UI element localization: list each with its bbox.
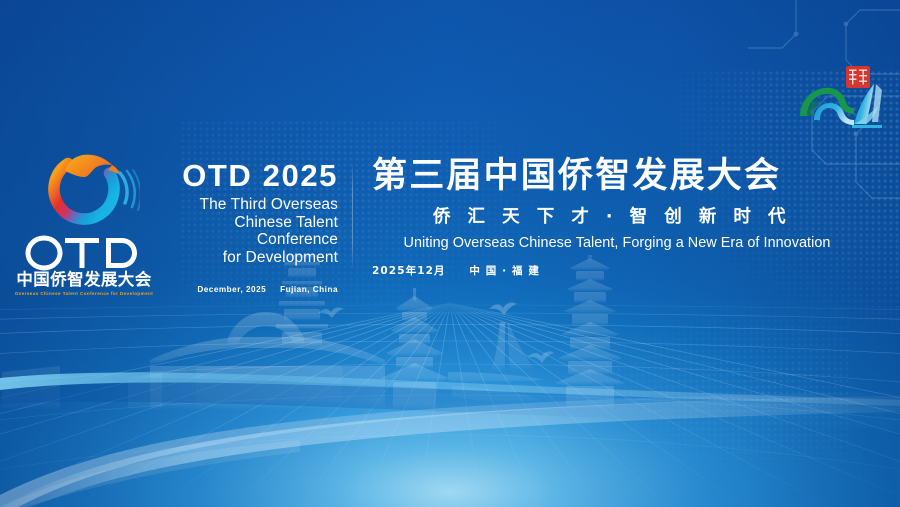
otd-logo-block: 中国侨智发展大会 Overseas Chinese Talent Confere… xyxy=(14,147,154,296)
english-location: Fujian, China xyxy=(280,285,338,294)
chinese-slogan: 侨 汇 天 下 才 · 智 创 新 时 代 xyxy=(372,203,862,228)
english-date-location: December, 2025 Fujian, China xyxy=(160,285,338,294)
english-subtitle-line-3: for Development xyxy=(160,249,338,267)
slogan-english: Uniting Overseas Chinese Talent, Forging… xyxy=(372,235,862,251)
english-subtitle-line-2: Chinese Talent Conference xyxy=(160,214,338,249)
chinese-location: 中 国 · 福 建 xyxy=(469,265,540,277)
emblem-red-seal xyxy=(846,66,870,88)
otd-chinese-name: 中国侨智发展大会 xyxy=(16,270,151,289)
otd-circular-swoosh-logo xyxy=(28,147,140,233)
english-subtitle: The Third Overseas Chinese Talent Confer… xyxy=(160,196,338,266)
chinese-title-panel: 第三届中国侨智发展大会 侨 汇 天 下 才 · 智 创 新 时 代 Unitin… xyxy=(372,158,862,278)
fujian-province-emblem xyxy=(792,62,888,138)
event-banner: 中国侨智发展大会 Overseas Chinese Talent Confere… xyxy=(0,0,900,507)
english-subtitle-line-1: The Third Overseas xyxy=(160,196,338,214)
otd-english-name: Overseas Chinese Talent Conference for D… xyxy=(13,290,156,295)
otd-chinese-name-wrap: 中国侨智发展大会 xyxy=(16,272,152,289)
panel-divider xyxy=(352,162,353,270)
chinese-date: 2025年12月 xyxy=(372,265,446,277)
english-event-title: OTD 2025 xyxy=(160,160,338,191)
otd-wordmark xyxy=(24,235,144,271)
chinese-event-title: 第三届中国侨智发展大会 xyxy=(372,158,862,196)
english-date: December, 2025 xyxy=(197,285,266,294)
english-title-panel: OTD 2025 The Third Overseas Chinese Tale… xyxy=(160,160,338,294)
chinese-date-location: 2025年12月 中 国 · 福 建 xyxy=(372,263,862,278)
